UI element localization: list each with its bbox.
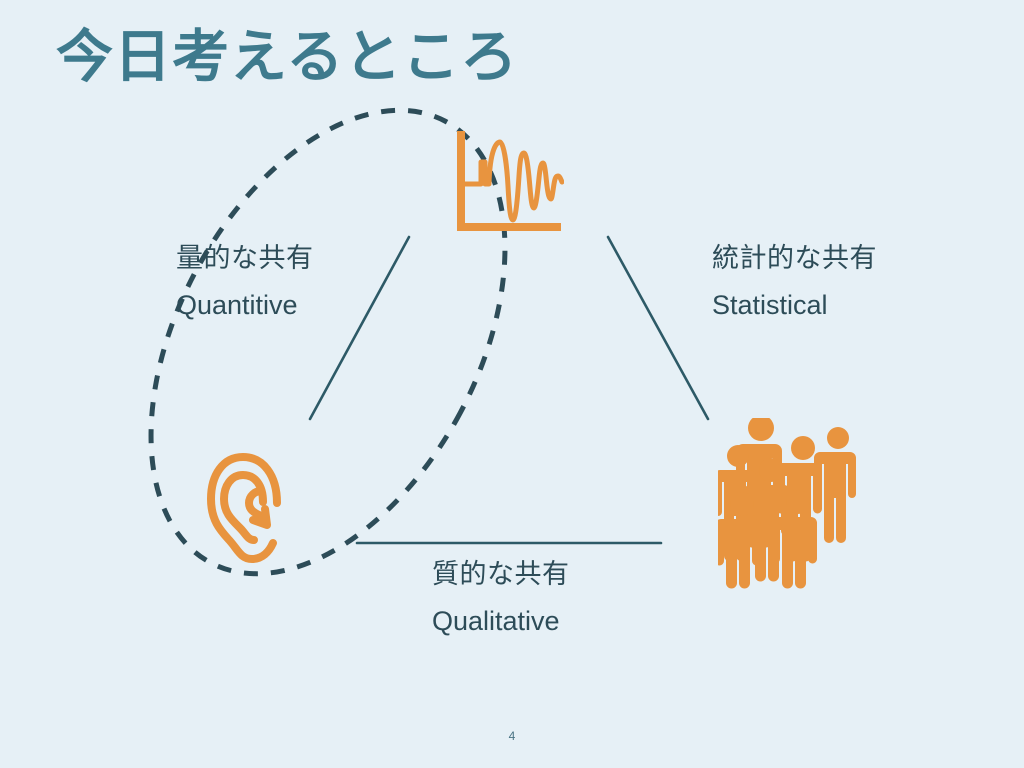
label-statistical-jp: 統計的な共有 bbox=[712, 240, 877, 278]
label-quantitive-en: Quantitive bbox=[176, 287, 314, 325]
label-quantitive-jp: 量的な共有 bbox=[176, 240, 314, 278]
damped-oscillation-chart-icon bbox=[452, 128, 564, 236]
ear-listening-icon bbox=[205, 447, 295, 565]
label-qualitative-en: Qualitative bbox=[432, 603, 570, 641]
label-statistical-en: Statistical bbox=[712, 287, 877, 325]
people-group-icon bbox=[718, 418, 868, 590]
page-title: 今日考えるところ bbox=[56, 26, 518, 89]
slide-canvas: 今日考えるところ bbox=[0, 0, 1024, 768]
triangle-right-edge bbox=[608, 237, 708, 419]
label-qualitative-jp: 質的な共有 bbox=[432, 556, 570, 594]
vector-shapes-layer bbox=[0, 0, 1024, 768]
page-number: 4 bbox=[0, 729, 1024, 743]
triangle-left-edge bbox=[310, 237, 409, 419]
label-qualitative: 質的な共有 Qualitative bbox=[432, 556, 570, 641]
label-statistical: 統計的な共有 Statistical bbox=[712, 240, 877, 325]
label-quantitive: 量的な共有 Quantitive bbox=[176, 240, 314, 325]
